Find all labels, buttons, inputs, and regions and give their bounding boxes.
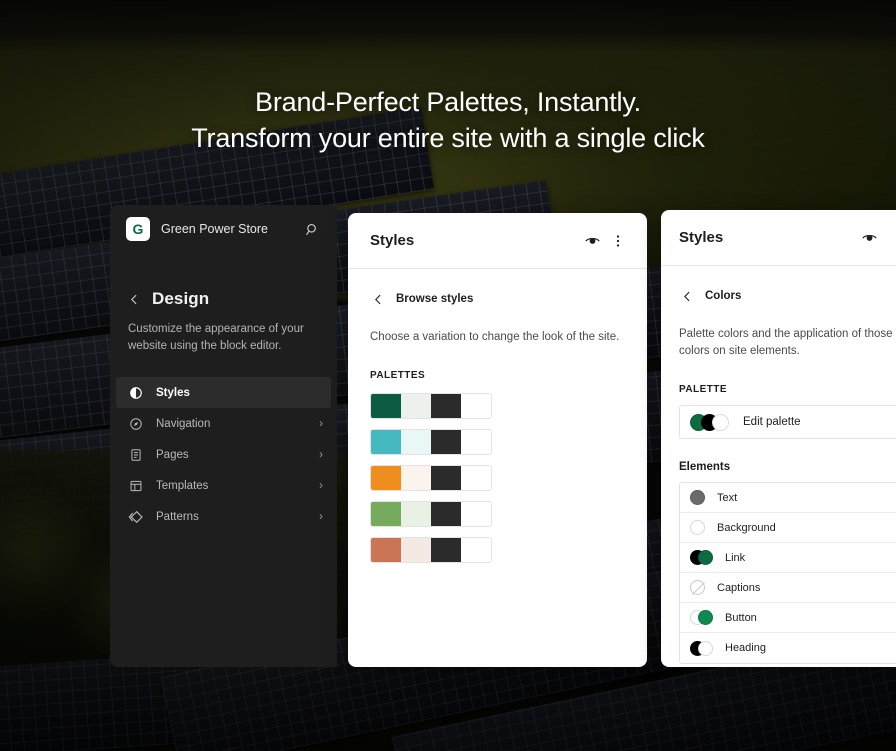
palette-color [401,394,431,418]
eye-icon[interactable] [579,228,605,254]
element-color-dots [690,520,705,535]
element-row[interactable]: Text [680,483,896,513]
palette-color [431,502,461,526]
color-dot [698,641,713,656]
element-label: Button [725,612,757,624]
palette-color [401,466,431,490]
palette-color [371,430,401,454]
palette-section-label: PALETTE [661,360,896,395]
compass-icon [128,416,144,432]
element-label: Text [717,492,737,504]
palette-color [401,502,431,526]
chevron-left-icon [679,288,695,304]
patterns-icon [128,509,144,525]
palette-swatch[interactable] [370,501,492,527]
chevron-right-icon: › [319,418,323,430]
panel-description: Choose a variation to change the look of… [348,307,647,346]
palette-swatch[interactable] [370,429,492,455]
palette-color [461,466,491,490]
palette-swatch[interactable] [370,537,492,563]
chevron-left-icon[interactable] [128,290,144,308]
sidebar-item-styles[interactable]: Styles [116,377,331,408]
site-logo: G [126,217,150,241]
color-dot [712,414,729,431]
color-dot [690,580,705,595]
element-label: Background [717,522,776,534]
palette-color [371,394,401,418]
page-title: Brand-Perfect Palettes, Instantly. Trans… [0,84,896,156]
element-row[interactable]: Heading [680,633,896,663]
palette-color [461,394,491,418]
palettes-grid [348,381,647,563]
palette-color [401,430,431,454]
sidebar-item-label: Pages [156,449,319,461]
color-dot [698,550,713,565]
palette-color [461,430,491,454]
element-row[interactable]: Button [680,603,896,633]
styles-panel-header: Styles [348,213,647,269]
sidebar-item-label: Patterns [156,511,319,523]
edit-palette-label: Edit palette [743,416,801,428]
colors-panel: Styles Colors Palette colors and the app… [661,210,896,667]
palette-color [431,394,461,418]
panel-title: Styles [679,229,856,246]
palette-color [431,430,461,454]
chevron-left-icon [370,291,386,307]
palette-color [401,538,431,562]
sidebar-title: Design [152,289,209,309]
contrast-icon [128,385,144,401]
site-editor-sidebar: G Green Power Store Design Customize the… [110,205,337,667]
styles-panel: Styles Browse styles [348,213,647,667]
sidebar-title-row: Design [110,253,337,309]
elements-section-label: Elements [661,439,896,473]
sidebar-header: G Green Power Store [110,205,337,253]
chevron-right-icon: › [319,511,323,523]
palette-swatch[interactable] [370,465,492,491]
sidebar-item-patterns[interactable]: Patterns › [116,501,331,532]
edit-palette-button[interactable]: Edit palette [679,405,896,439]
chevron-right-icon: › [319,449,323,461]
element-color-dots [690,550,713,565]
more-vertical-icon[interactable] [605,228,631,254]
element-row[interactable]: Link [680,543,896,573]
page-icon [128,447,144,463]
element-row[interactable]: Background [680,513,896,543]
color-dot [690,520,705,535]
sidebar-item-label: Navigation [156,418,319,430]
palette-color [431,538,461,562]
palette-color [461,502,491,526]
headline-line-1: Brand-Perfect Palettes, Instantly. [0,84,896,120]
sidebar-item-pages[interactable]: Pages › [116,439,331,470]
element-color-dots [690,641,713,656]
panel-description: Palette colors and the application of th… [661,304,896,360]
layout-icon [128,478,144,494]
color-dot [698,610,713,625]
palette-color [371,502,401,526]
back-label: Colors [705,290,741,302]
palette-color-dots [690,414,729,431]
colors-panel-header: Styles [661,210,896,266]
palettes-section-label: PALETTES [348,346,647,381]
sidebar-item-label: Styles [156,387,323,399]
colors-back-row[interactable]: Colors [661,266,896,304]
element-label: Heading [725,642,766,654]
color-dot [690,490,705,505]
sidebar-nav: Styles Navigation › [110,377,337,532]
element-color-dots [690,580,705,595]
element-row[interactable]: Captions [680,573,896,603]
eye-icon[interactable] [856,225,882,251]
sidebar-item-label: Templates [156,480,319,492]
palette-color [371,466,401,490]
palette-swatch[interactable] [370,393,492,419]
search-icon[interactable] [301,218,323,240]
sidebar-item-navigation[interactable]: Navigation › [116,408,331,439]
palette-color [371,538,401,562]
elements-list: TextBackgroundLinkCaptionsButtonHeading [679,482,896,664]
browse-styles-back-row[interactable]: Browse styles [348,269,647,307]
sidebar-description: Customize the appearance of your website… [110,309,337,355]
palette-color [461,538,491,562]
back-label: Browse styles [396,293,473,305]
chevron-right-icon: › [319,480,323,492]
element-color-dots [690,610,713,625]
element-color-dots [690,490,705,505]
element-label: Captions [717,582,760,594]
headline-line-2: Transform your entire site with a single… [0,120,896,156]
sidebar-item-templates[interactable]: Templates › [116,470,331,501]
palette-color [431,466,461,490]
site-name-label: Green Power Store [161,222,301,236]
element-label: Link [725,552,745,564]
panel-title: Styles [370,232,579,249]
